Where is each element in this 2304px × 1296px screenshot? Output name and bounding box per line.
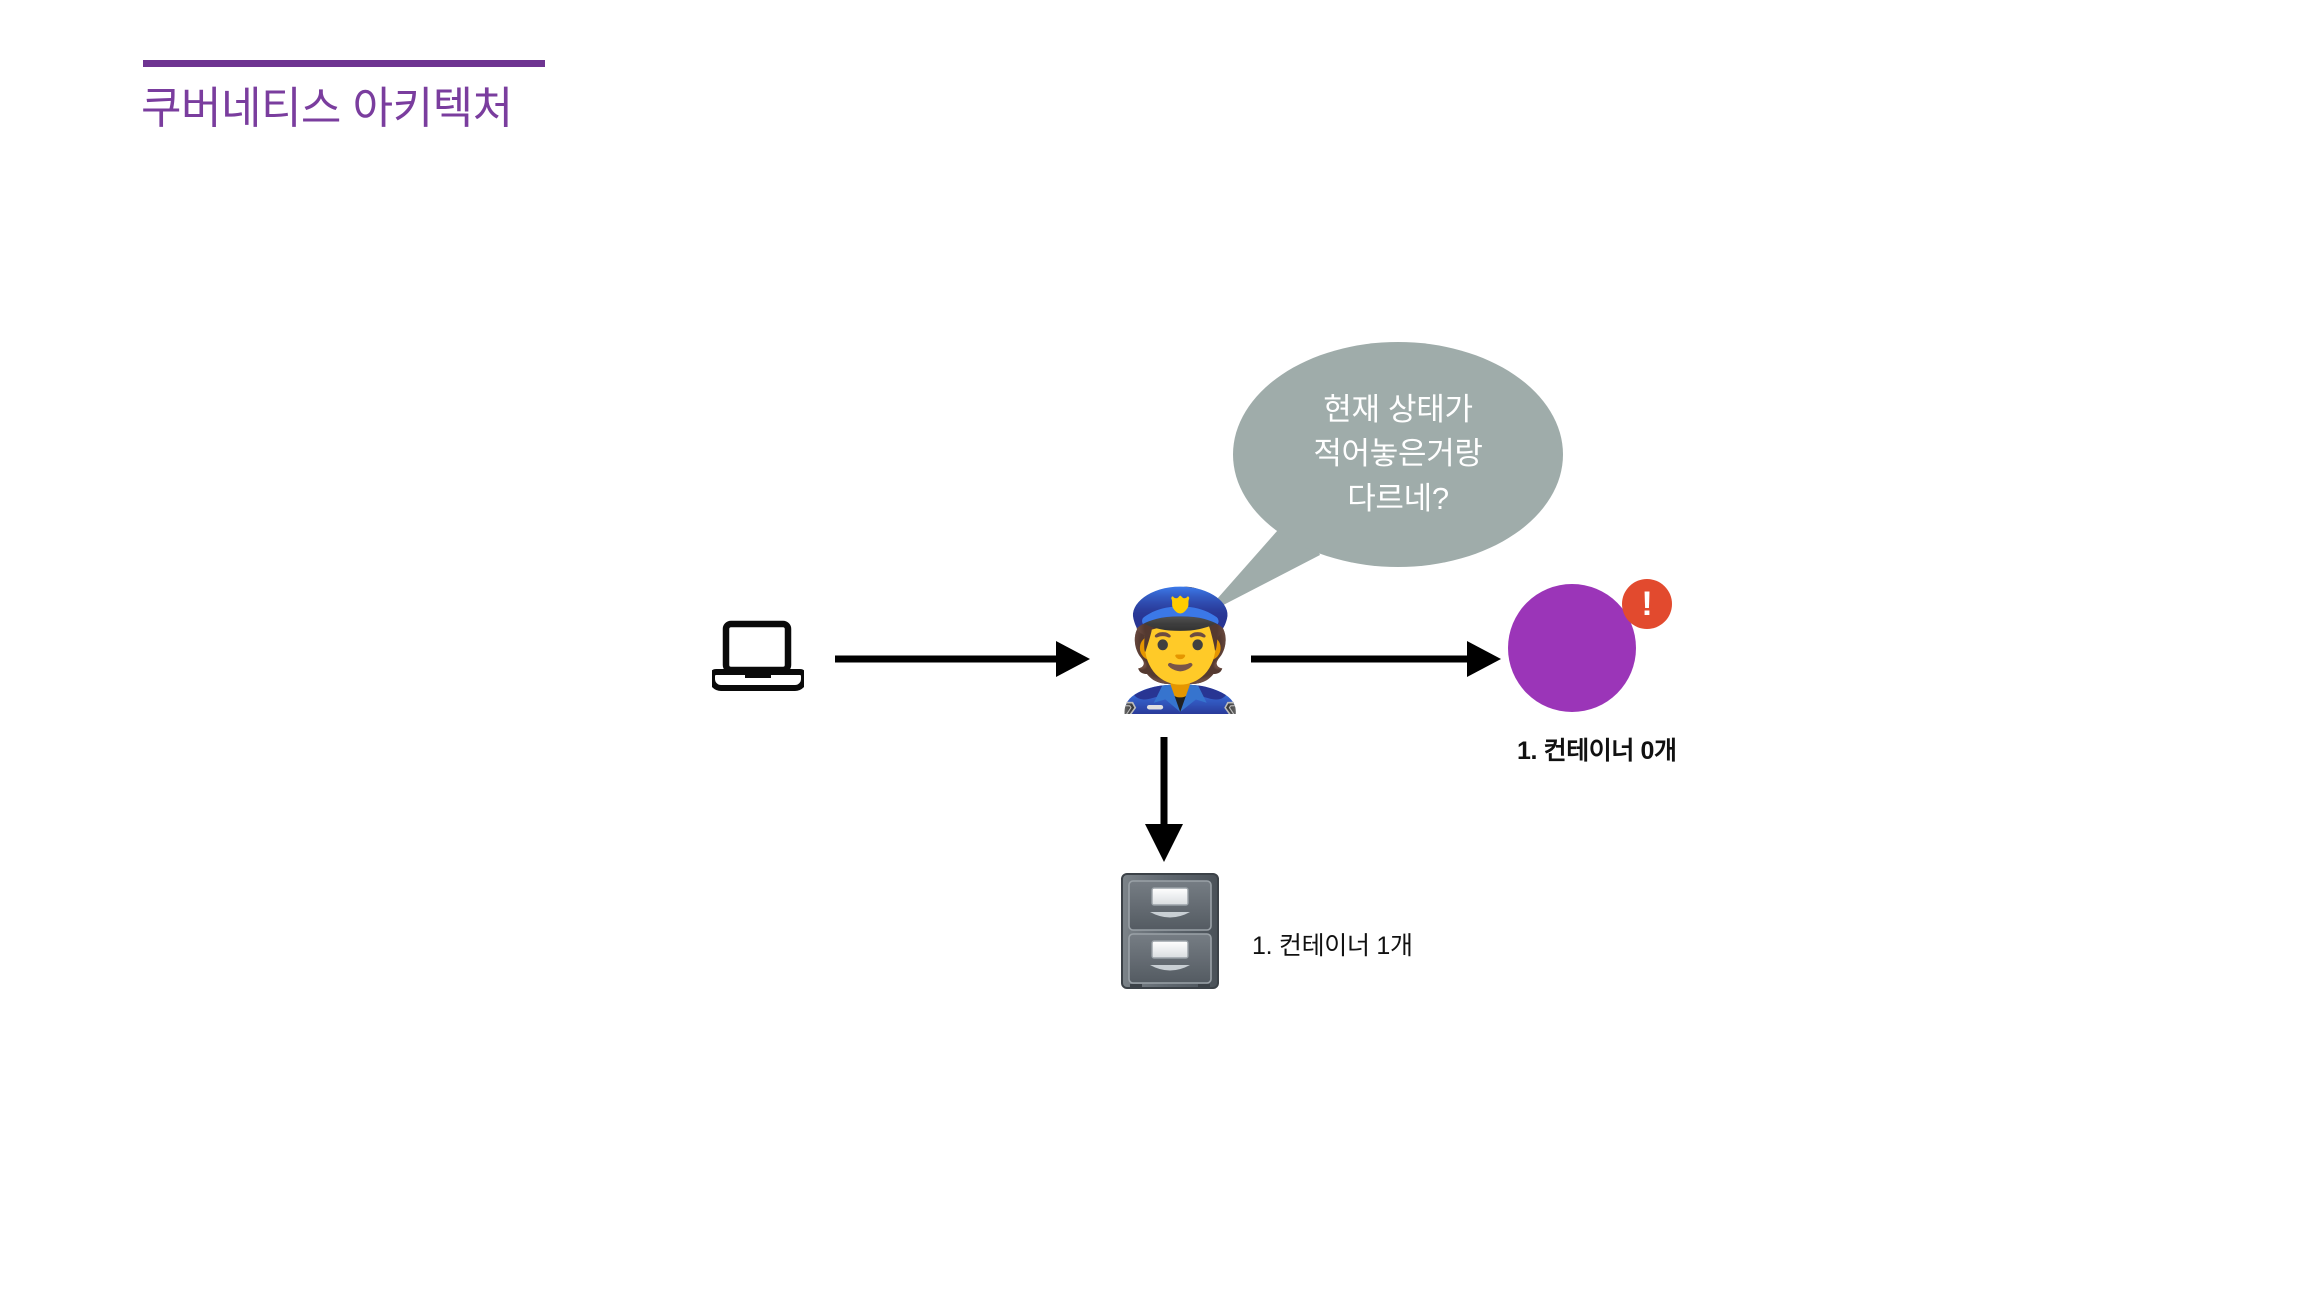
etcd-label: 1. 컨테이너 1개 <box>1252 926 1413 962</box>
pod-circle-icon[interactable] <box>1508 584 1636 712</box>
file-cabinet-icon[interactable] <box>1120 872 1220 990</box>
laptop-icon[interactable] <box>712 618 804 694</box>
architecture-diagram: 현재 상태가 적어놓은거랑 다르네? 👮 <box>0 0 2304 1296</box>
speech-bubble-text: 현재 상태가 적어놓은거랑 다르네? <box>1313 388 1482 520</box>
arrow-controller-to-etcd <box>1145 737 1183 862</box>
speech-bubble: 현재 상태가 적어놓은거랑 다르네? <box>1233 342 1563 567</box>
arrow-client-to-controller <box>835 641 1090 677</box>
warning-exclamation-icon[interactable]: ! <box>1622 579 1672 629</box>
police-officer-icon[interactable]: 👮 <box>1108 583 1220 719</box>
arrow-controller-to-pod <box>1251 641 1501 677</box>
pod-label: 1. 컨테이너 0개 <box>1517 731 1677 767</box>
